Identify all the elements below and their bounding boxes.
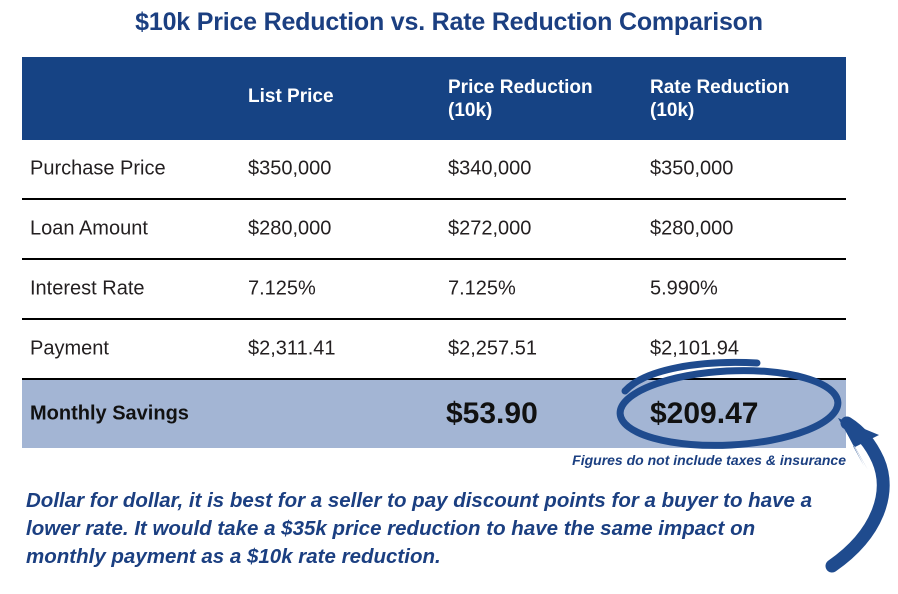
table-row: Payment $2,311.41 $2,257.51 $2,101.94: [22, 320, 846, 380]
row-label: Monthly Savings: [30, 403, 189, 426]
row-label: Loan Amount: [30, 218, 148, 241]
cell-list-price: 7.125%: [248, 278, 316, 301]
cell-price-reduction: 7.125%: [448, 278, 516, 301]
cell-rate-reduction: $350,000: [650, 158, 733, 181]
column-header-price-reduction-line1: Price Reduction: [448, 76, 593, 99]
cell-list-price: $2,311.41: [248, 338, 336, 361]
table-row: Purchase Price $350,000 $340,000 $350,00…: [22, 140, 846, 200]
cell-savings-price-reduction: $53.90: [446, 397, 538, 431]
column-header-price-reduction: Price Reduction (10k): [448, 76, 593, 122]
column-header-rate-reduction-line2: (10k): [650, 99, 789, 122]
table-row: Loan Amount $280,000 $272,000 $280,000: [22, 200, 846, 260]
column-header-list-price: List Price: [248, 85, 334, 108]
cell-price-reduction: $2,257.51: [448, 338, 537, 361]
footnote-text: Figures do not include taxes & insurance: [572, 452, 846, 468]
cell-savings-rate-reduction: $209.47: [650, 397, 758, 431]
cell-rate-reduction: $2,101.94: [650, 338, 739, 361]
row-label: Interest Rate: [30, 278, 145, 301]
cell-rate-reduction: 5.990%: [650, 278, 718, 301]
table-row-monthly-savings: Monthly Savings $53.90 $209.47: [22, 380, 846, 448]
summary-note-text: Dollar for dollar, it is best for a sell…: [26, 487, 836, 571]
cell-price-reduction: $272,000: [448, 218, 531, 241]
cell-list-price: $280,000: [248, 218, 331, 241]
table-row: Interest Rate 7.125% 7.125% 5.990%: [22, 260, 846, 320]
cell-rate-reduction: $280,000: [650, 218, 733, 241]
comparison-table: List Price Price Reduction (10k) Rate Re…: [22, 57, 846, 448]
table-header-row: List Price Price Reduction (10k) Rate Re…: [22, 57, 846, 140]
cell-price-reduction: $340,000: [448, 158, 531, 181]
row-label: Payment: [30, 338, 109, 361]
column-header-rate-reduction: Rate Reduction (10k): [650, 76, 789, 122]
cell-list-price: $350,000: [248, 158, 331, 181]
column-header-price-reduction-line2: (10k): [448, 99, 593, 122]
page-title: $10k Price Reduction vs. Rate Reduction …: [0, 8, 898, 37]
infographic-root: $10k Price Reduction vs. Rate Reduction …: [0, 0, 898, 594]
column-header-rate-reduction-line1: Rate Reduction: [650, 76, 789, 99]
row-label: Purchase Price: [30, 158, 166, 181]
